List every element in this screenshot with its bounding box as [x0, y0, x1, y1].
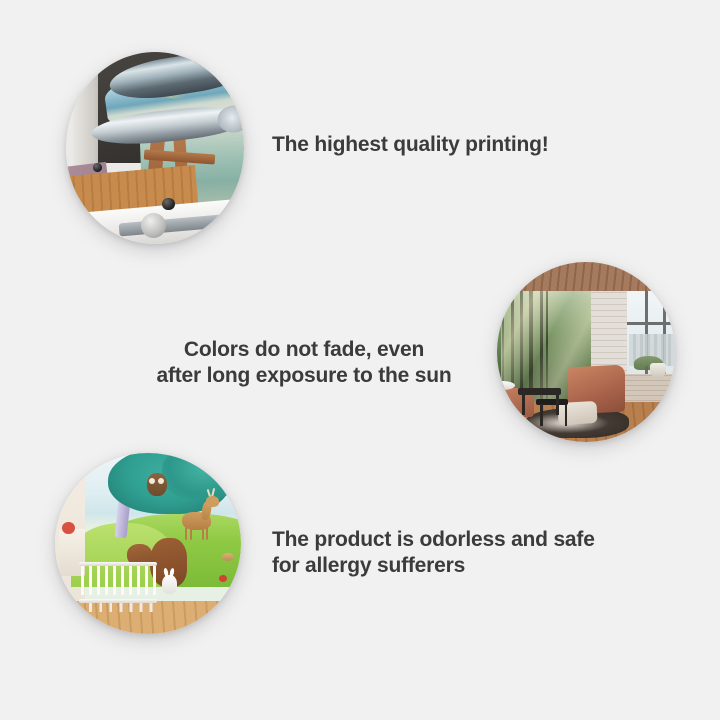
- living-room-scene: [497, 262, 675, 442]
- nursery-scene: [55, 453, 241, 634]
- living-room-forest-mural-photo: [497, 262, 675, 442]
- crib-bars: [81, 566, 156, 595]
- mural-tree-canopy: [162, 453, 241, 499]
- infographic-canvas: The highest quality printing!: [0, 0, 720, 720]
- mural-apple-icon: [219, 575, 227, 583]
- window-mullion: [627, 322, 675, 325]
- deer-leg: [185, 527, 187, 540]
- printing-press-photo: [66, 52, 244, 244]
- wood-ceiling: [497, 262, 675, 291]
- nursery-woodland-mural-photo: [55, 453, 241, 634]
- caption-odorless-safe: The product is odorless and safe for all…: [272, 527, 595, 579]
- mural-ball-icon: [222, 553, 234, 561]
- mural-rabbit-icon: [162, 575, 177, 595]
- machine-dial-icon: [141, 213, 166, 238]
- mural-deer-icon: [182, 496, 219, 542]
- caption-colorfast: Colors do not fade, even after long expo…: [148, 337, 460, 389]
- table-leg: [556, 393, 559, 415]
- machine-knob-icon: [93, 163, 102, 172]
- machine-knob-icon: [162, 198, 174, 210]
- table-leg: [565, 404, 568, 426]
- mural-owl-icon: [147, 473, 167, 496]
- caption-printing-quality: The highest quality printing!: [272, 132, 549, 158]
- deer-leg: [206, 527, 208, 540]
- crib-legs: [82, 603, 154, 612]
- printing-press-scene: [66, 52, 244, 244]
- table-leg: [522, 393, 525, 415]
- table-leg: [540, 404, 543, 426]
- coffee-table: [518, 388, 561, 395]
- planter-pot: [650, 363, 666, 377]
- deer-head: [206, 496, 219, 506]
- baby-crib: [79, 562, 157, 613]
